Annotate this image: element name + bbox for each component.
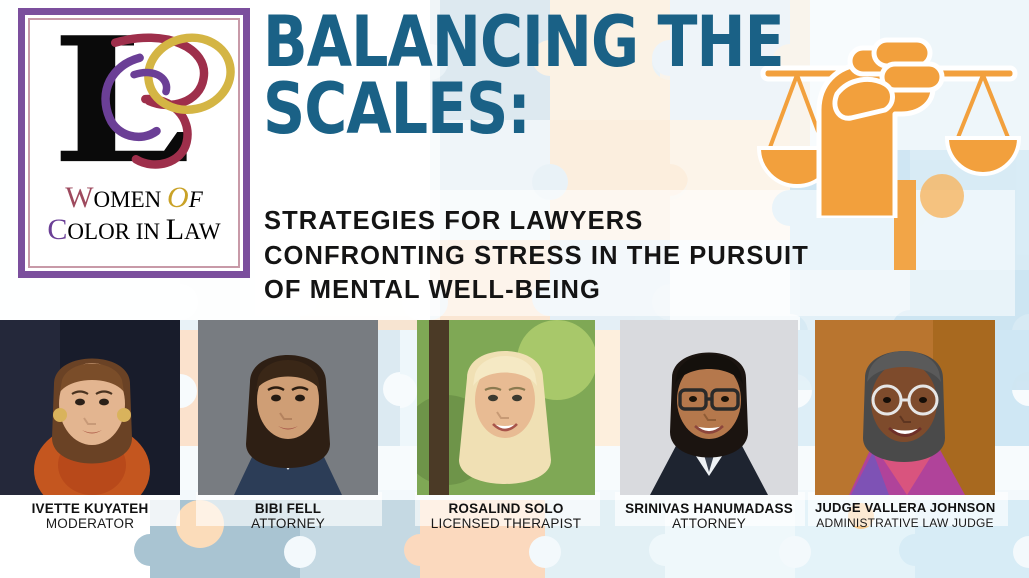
speaker-caption: SRINIVAS HANUMADASS ATTORNEY (620, 495, 798, 532)
subtitle-line-3: OF MENTAL WELL-BEING (264, 273, 809, 308)
speaker-list: IVETTE KUYATEH MODERATOR (0, 320, 1029, 578)
speaker-role: ADMINISTRATIVE LAW JUDGE (815, 516, 995, 530)
logo-glyph-run: O (167, 181, 189, 214)
speaker-name: JUDGE VALLERA JOHNSON (815, 501, 995, 516)
logo-glyph-run: L (166, 213, 184, 246)
title-line-2: SCALES: (263, 81, 784, 137)
speaker-card: JUDGE VALLERA JOHNSON ADMINISTRATIVE LAW… (815, 320, 995, 530)
speaker-headshot (417, 320, 595, 495)
logo-glyph-run: OLOR IN (67, 219, 165, 244)
logo-wordmark: WOMEN OF COLOR IN LAW (25, 183, 243, 245)
speaker-name: SRINIVAS HANUMADASS (620, 501, 798, 516)
speaker-headshot (198, 320, 378, 495)
logo-glyph-run: F (189, 187, 203, 212)
logo-glyph-run: C (47, 213, 67, 246)
speaker-role: MODERATOR (0, 516, 180, 532)
speaker-caption: ROSALIND SOLO LICENSED THERAPIST (417, 495, 595, 532)
speaker-headshot (620, 320, 798, 495)
speaker-card: ROSALIND SOLO LICENSED THERAPIST (417, 320, 595, 532)
subtitle-line-1: STRATEGIES FOR LAWYERS (264, 204, 809, 239)
speaker-caption: BIBI FELL ATTORNEY (198, 495, 378, 532)
speaker-headshot (0, 320, 180, 495)
speaker-role: LICENSED THERAPIST (417, 516, 595, 532)
logo-glyph-run: W (65, 181, 93, 214)
logo-glyph-run: AW (184, 219, 220, 244)
speaker-headshot (815, 320, 995, 495)
logo-line-1: WOMEN OF (25, 183, 243, 214)
logo-mark-icon (25, 15, 243, 187)
speaker-caption: JUDGE VALLERA JOHNSON ADMINISTRATIVE LAW… (815, 495, 995, 530)
speaker-role: ATTORNEY (198, 516, 378, 532)
page-subtitle: STRATEGIES FOR LAWYERS CONFRONTING STRES… (264, 204, 809, 308)
speaker-name: BIBI FELL (198, 501, 378, 516)
page-title: BALANCING THE SCALES: (263, 14, 823, 137)
logo-line-2: COLOR IN LAW (25, 215, 243, 246)
speaker-name: IVETTE KUYATEH (0, 501, 180, 516)
speaker-card: BIBI FELL ATTORNEY (198, 320, 378, 532)
speaker-card: SRINIVAS HANUMADASS ATTORNEY (620, 320, 798, 532)
speaker-caption: IVETTE KUYATEH MODERATOR (0, 495, 180, 532)
promotional-flyer: WOMEN OF COLOR IN LAW (0, 0, 1029, 578)
women-of-color-in-law-logo: WOMEN OF COLOR IN LAW (18, 8, 250, 278)
speaker-name: ROSALIND SOLO (417, 501, 595, 516)
speaker-role: ATTORNEY (620, 516, 798, 532)
speaker-card: IVETTE KUYATEH MODERATOR (0, 320, 180, 532)
logo-glyph-run: OMEN (94, 187, 162, 212)
subtitle-line-2: CONFRONTING STRESS IN THE PURSUIT (264, 239, 809, 274)
title-line-1: BALANCING THE (263, 14, 784, 70)
